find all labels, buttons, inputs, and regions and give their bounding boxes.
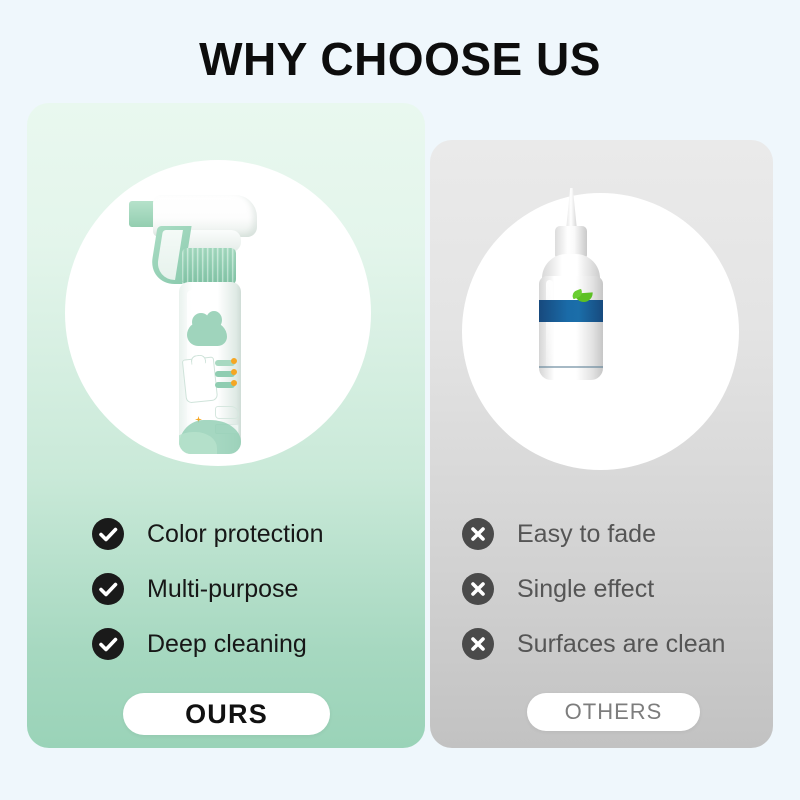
squeeze-bottle-body (539, 276, 603, 380)
label-shirt-icon (182, 356, 218, 403)
list-item: Easy to fade (462, 518, 725, 550)
list-item: Color protection (92, 518, 323, 550)
bottle-highlight (546, 280, 553, 368)
list-item: Deep cleaning (92, 628, 323, 660)
page-title: WHY CHOOSE US (0, 31, 800, 87)
x-icon (462, 573, 494, 605)
ours-feature-list: Color protection Multi-purpose Deep clea… (92, 518, 323, 683)
bottle-tip-icon (566, 188, 577, 230)
others-label-pill[interactable]: OTHERS (527, 693, 700, 731)
feature-label: Deep cleaning (147, 629, 307, 659)
spray-bottle-body (179, 282, 241, 454)
spray-bottle-image (127, 178, 287, 458)
x-icon (462, 628, 494, 660)
list-item: Surfaces are clean (462, 628, 725, 660)
feature-label: Easy to fade (517, 519, 656, 549)
squeeze-bottle-image (520, 188, 620, 383)
list-item: Multi-purpose (92, 573, 323, 605)
bottle-base-line (539, 366, 603, 368)
label-shoe-icon (215, 406, 239, 419)
feature-label: Multi-purpose (147, 574, 298, 604)
spray-collar (182, 248, 236, 286)
others-label-text: OTHERS (565, 699, 663, 725)
list-item: Single effect (462, 573, 725, 605)
ours-label-pill[interactable]: OURS (123, 693, 330, 735)
ours-label-text: OURS (185, 699, 268, 730)
ours-panel: Color protection Multi-purpose Deep clea… (27, 103, 425, 748)
label-orange-dots (231, 358, 237, 391)
feature-label: Surfaces are clean (517, 629, 725, 659)
feature-label: Single effect (517, 574, 654, 604)
check-icon (92, 628, 124, 660)
label-cloud-icon (187, 322, 227, 346)
others-feature-list: Easy to fade Single effect Surfaces are … (462, 518, 725, 683)
check-icon (92, 518, 124, 550)
infographic-root: WHY CHOOSE US (0, 0, 800, 800)
feature-label: Color protection (147, 519, 323, 549)
bottle-blue-band (539, 300, 603, 322)
others-panel: Easy to fade Single effect Surfaces are … (430, 140, 773, 748)
check-icon (92, 573, 124, 605)
x-icon (462, 518, 494, 550)
